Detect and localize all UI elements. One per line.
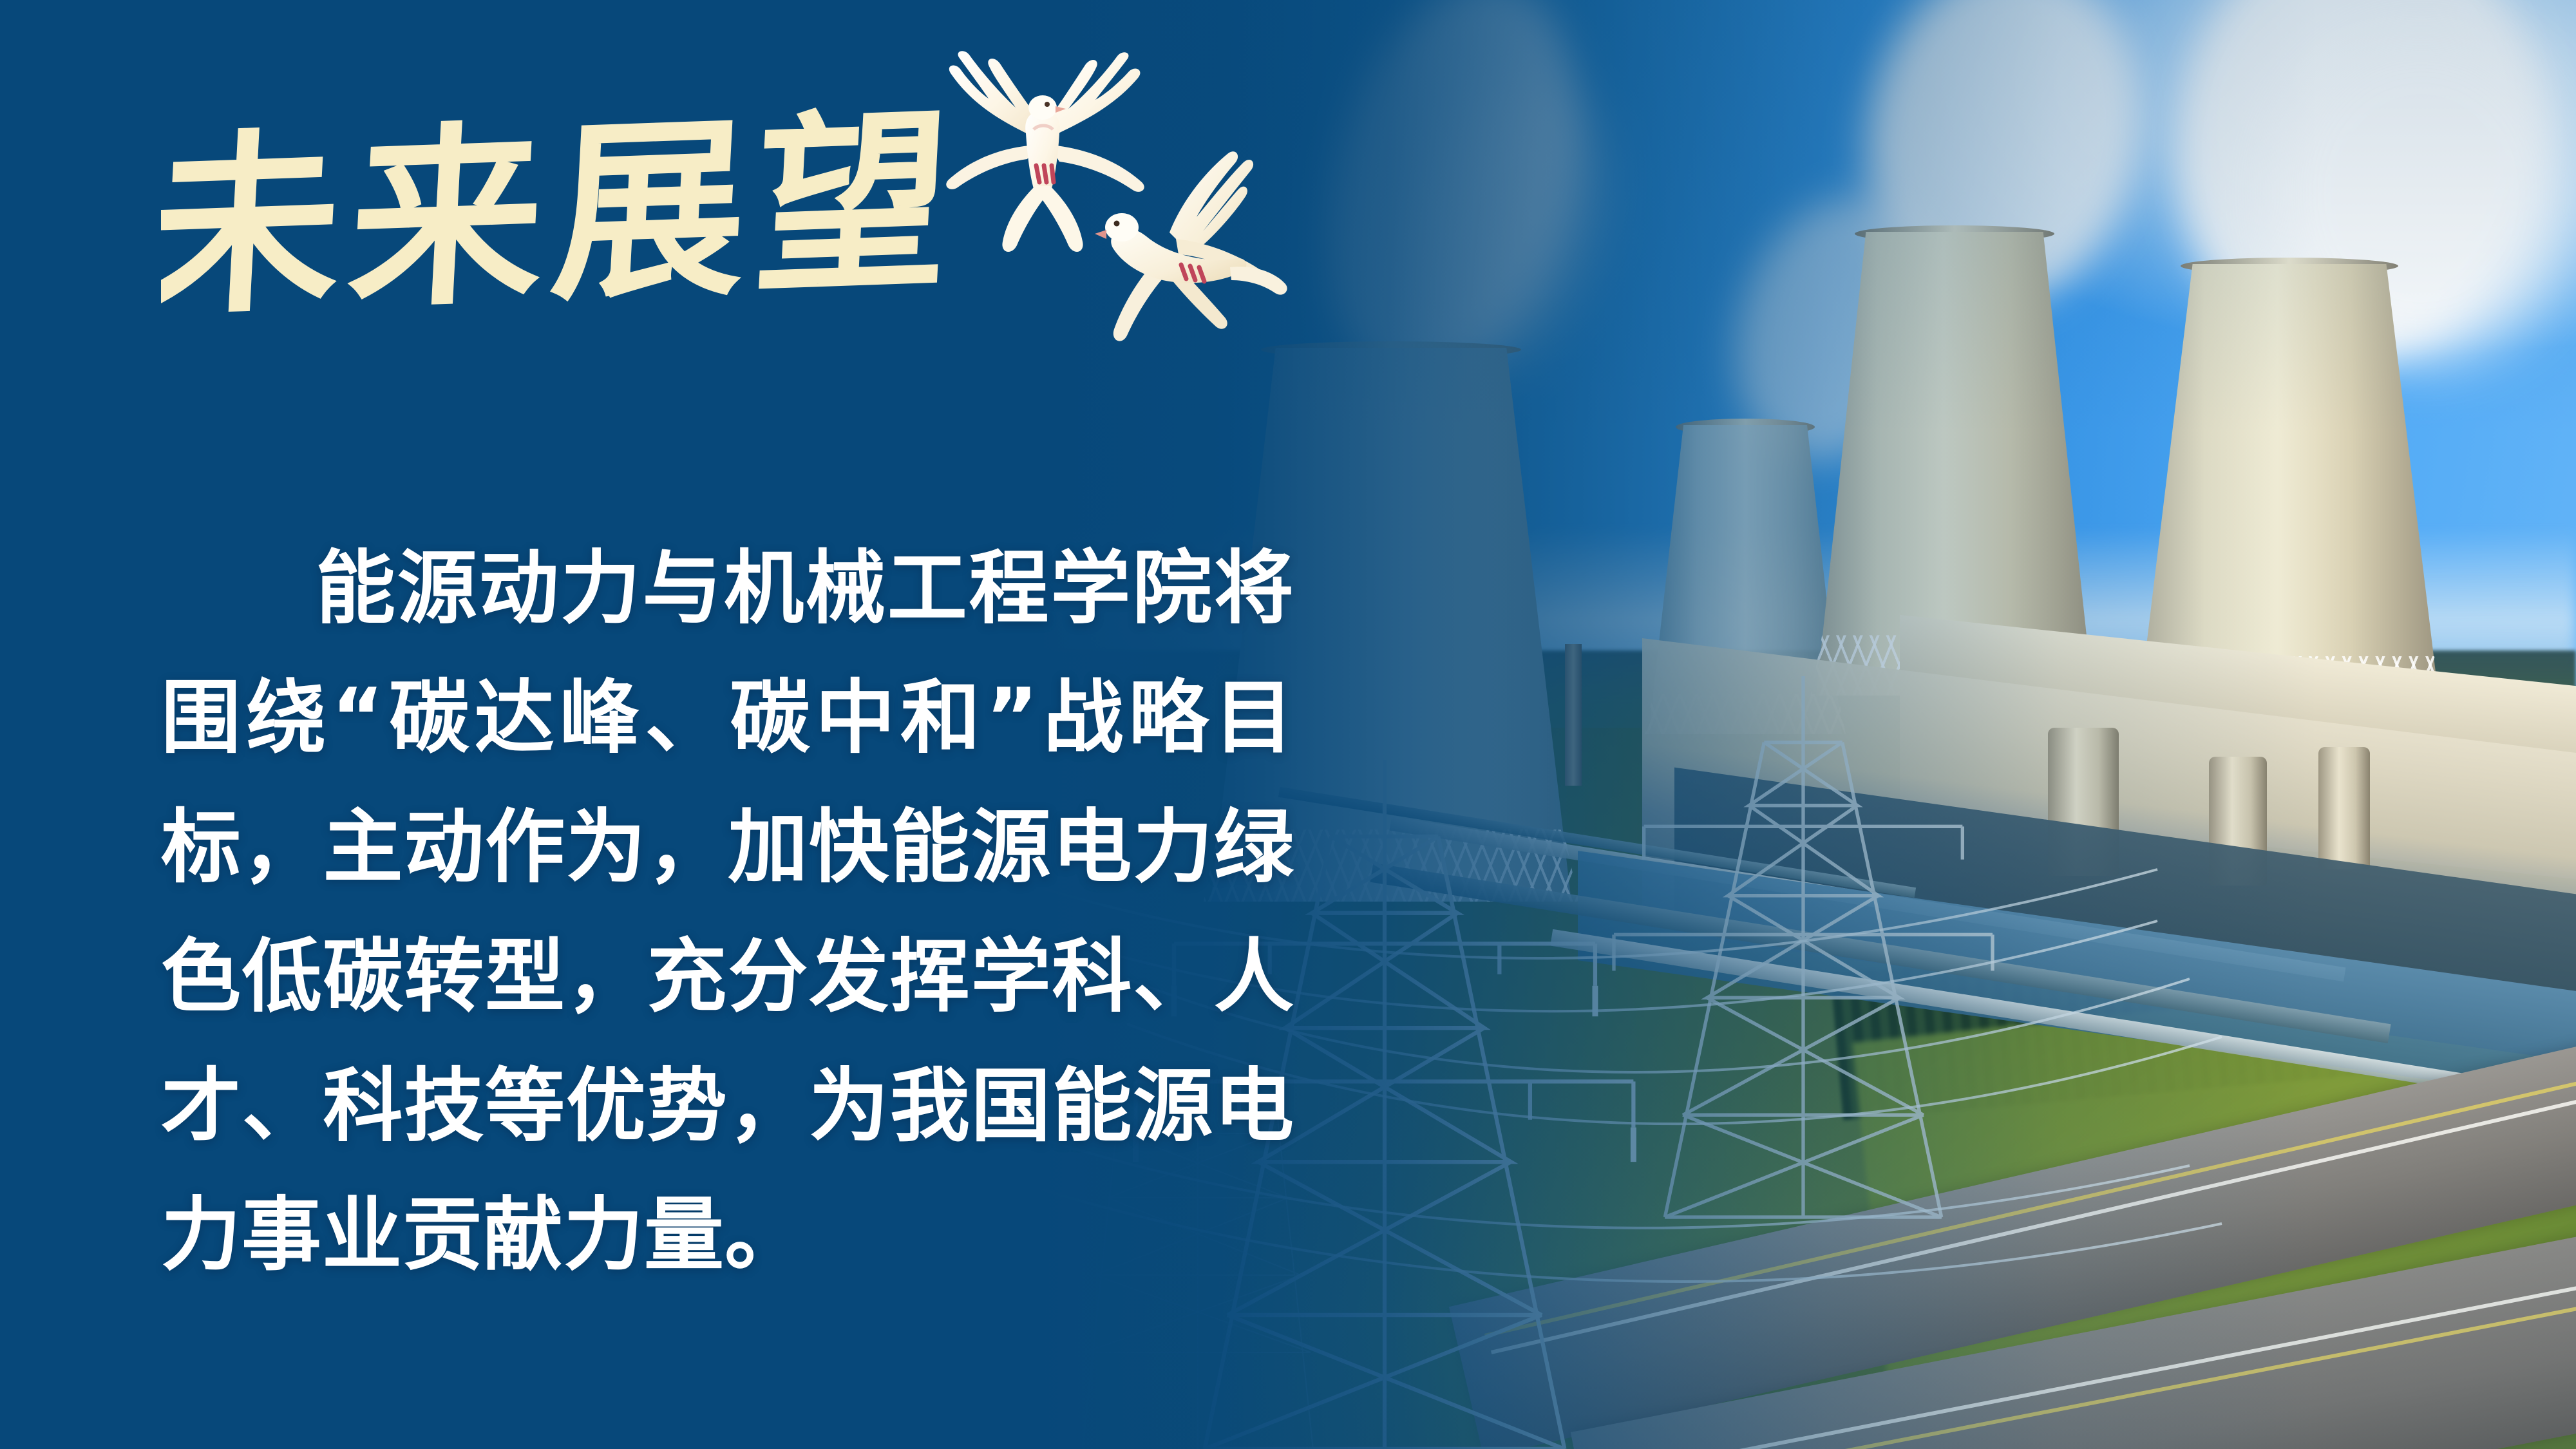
dove-right-icon <box>1050 145 1288 351</box>
title-text: 未来展望 <box>161 97 964 342</box>
future-outlook-poster: 未来展望 能源动力与机械工程学院将围绕“碳达峰、碳中和”战略目标，主动作为，加快… <box>0 0 2576 1449</box>
title-calligraphy: 未来展望 <box>161 97 966 354</box>
page-title: 未来展望 <box>161 97 966 354</box>
body-paragraph: 能源动力与机械工程学院将围绕“碳达峰、碳中和”战略目标，主动作为，加快能源电力绿… <box>161 524 1294 1300</box>
